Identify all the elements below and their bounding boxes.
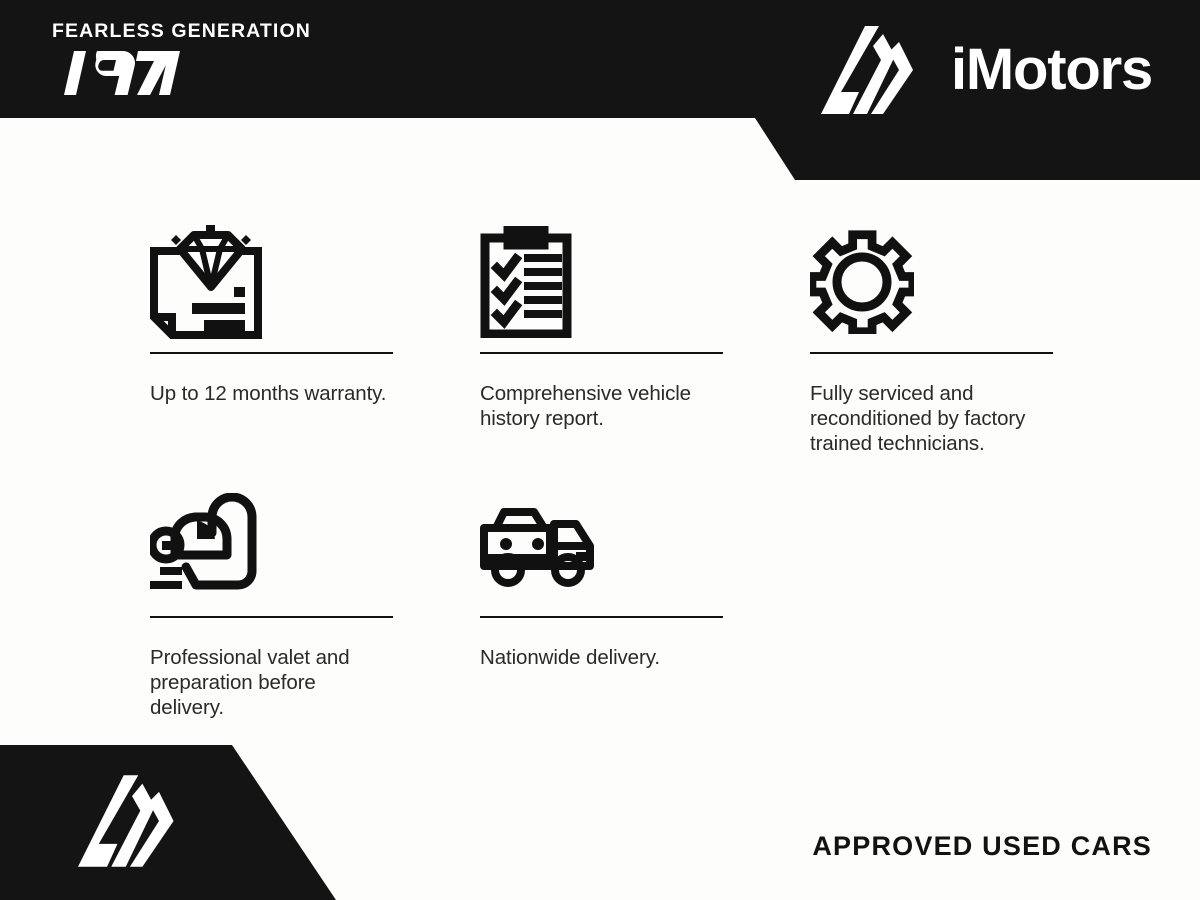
poster-canvas: FEARLESS GENERATION (0, 0, 1200, 900)
vacuum-cleaner-icon (150, 474, 393, 616)
car-transporter-truck-icon (480, 474, 723, 616)
feature-label: Professional valet and preparation befor… (150, 645, 393, 720)
feature-history-report: Comprehensive vehicle history report. (480, 212, 723, 431)
feature-divider (480, 616, 723, 618)
feature-row-2: Professional valet and preparation befor… (150, 474, 1050, 720)
feature-label: Nationwide delivery. (480, 645, 723, 670)
brand-name: iMotors (951, 41, 1152, 99)
feature-divider (150, 616, 393, 618)
feature-valet: Professional valet and preparation befor… (150, 474, 393, 720)
feature-delivery: Nationwide delivery. (480, 474, 723, 670)
feature-serviced: Fully serviced and reconditioned by fact… (810, 212, 1053, 456)
feature-divider (810, 352, 1053, 354)
feature-warranty: Up to 12 months warranty. (150, 212, 393, 406)
feature-grid: Up to 12 months warranty. (150, 212, 1050, 720)
feature-label: Up to 12 months warranty. (150, 381, 393, 406)
feature-label: Comprehensive vehicle history report. (480, 381, 723, 431)
footer-caption: APPROVED USED CARS (812, 831, 1152, 862)
imotors-chevron-icon (78, 775, 186, 867)
feature-divider (150, 352, 393, 354)
brand-lockup: iMotors (821, 26, 1152, 114)
feature-divider (480, 352, 723, 354)
imotors-chevron-icon (821, 26, 925, 114)
feature-row-1: Up to 12 months warranty. (150, 212, 1050, 456)
clipboard-checklist-icon (480, 212, 723, 352)
gear-icon (810, 212, 1053, 352)
feature-label: Fully serviced and reconditioned by fact… (810, 381, 1053, 456)
warranty-certificate-diamond-icon (150, 212, 393, 352)
